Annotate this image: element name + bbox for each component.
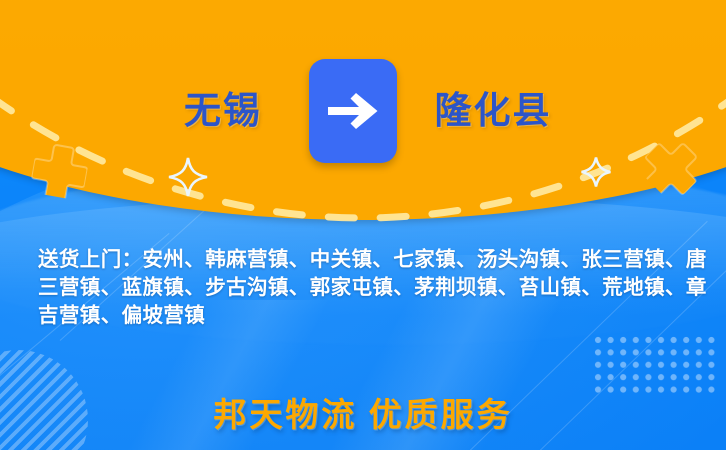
origin-city: 无锡: [143, 93, 303, 130]
company-slogan: 邦天物流 优质服务: [0, 388, 726, 436]
arrow-right-icon: [326, 91, 380, 131]
shipping-route-banner: 无锡 隆化县 送货上门：安州、韩麻营镇、中关镇、七家镇、汤头沟镇、张三营镇、唐三…: [0, 0, 726, 450]
delivery-coverage-text: 送货上门：安州、韩麻营镇、中关镇、七家镇、汤头沟镇、张三营镇、唐三营镇、蓝旗镇、…: [38, 246, 718, 330]
route-arrow-box: [309, 59, 397, 163]
route-row: 无锡 隆化县: [0, 56, 726, 166]
destination-city: 隆化县: [403, 93, 583, 130]
